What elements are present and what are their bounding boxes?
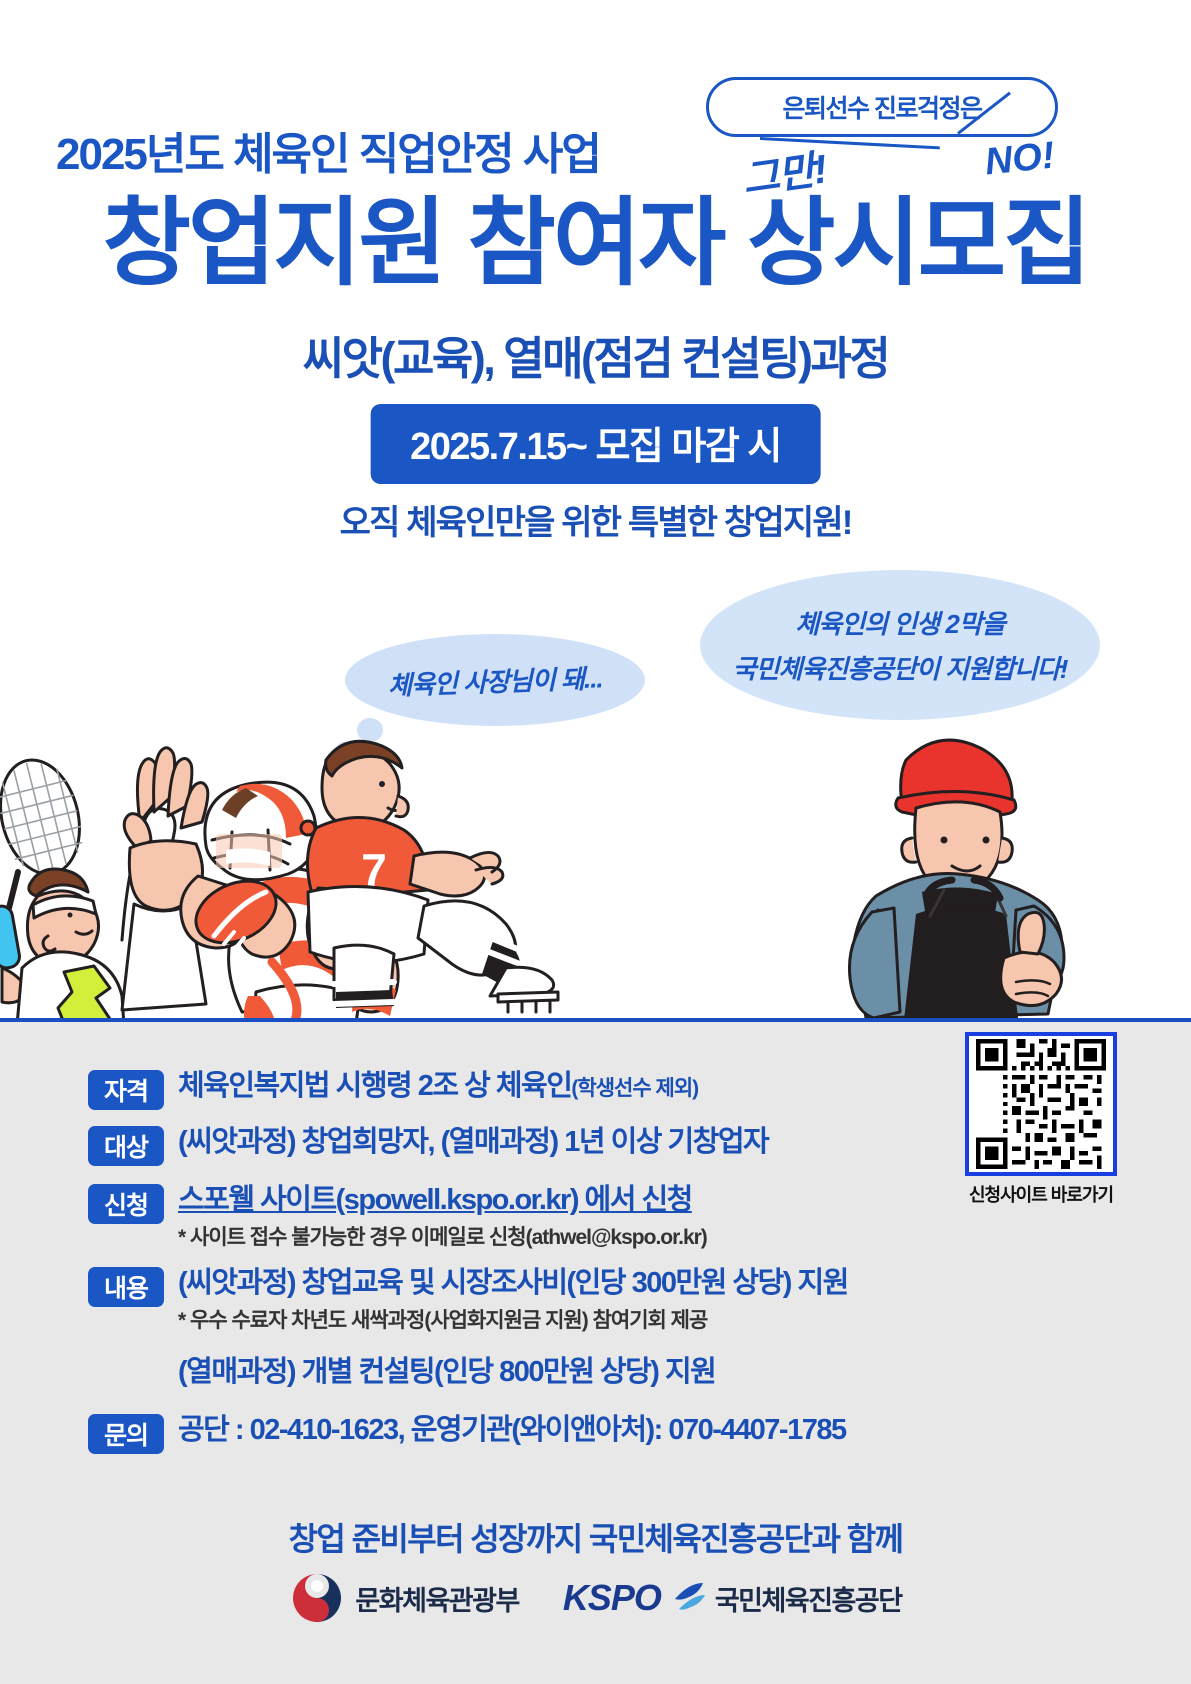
course-subtitle: 씨앗(교육), 열매(점검 컨설팅)과정 (0, 322, 1191, 387)
info-row-target: 대상 (씨앗과정) 창업희망자, (열매과정) 1년 이상 기창업자 (88, 1124, 988, 1166)
speech-pill-text: 은퇴선수 진로걱정은 (709, 80, 1055, 134)
info-main-contact: 공단 : 02-410-1623, 운영기관(와이앤아처): 070-4407-… (178, 1412, 988, 1449)
taegeuk-icon (289, 1570, 345, 1626)
logo-kspo-label: 국민체육진흥공단 (715, 1579, 902, 1618)
info-body-content: (씨앗과정) 창업교육 및 시장조사비(인당 300만원 상당) 지원 * 우수… (178, 1265, 988, 1390)
info-main-content-fruit: (열매과정) 개별 컨설팅(인당 800만원 상당) 지원 (178, 1348, 988, 1390)
logo-mcst-label: 문화체육관광부 (355, 1579, 518, 1618)
qr-code-icon (972, 1039, 1110, 1169)
recruitment-date-badge: 2025.7.15~ 모집 마감 시 (370, 404, 821, 484)
info-body-contact: 공단 : 02-410-1623, 운영기관(와이앤아처): 070-4407-… (178, 1412, 988, 1449)
athletes-illustration: 7 (0, 700, 1191, 1018)
closing-slogan: 창업 준비부터 성장까지 국민체육진흥공단과 함께 (0, 1514, 1191, 1560)
info-row-content: 내용 (씨앗과정) 창업교육 및 시장조사비(인당 300만원 상당) 지원 *… (88, 1265, 988, 1390)
handwritten-no-text: NO! (983, 134, 1057, 184)
info-main-qualification-text: 체육인복지법 시행령 2조 상 체육인 (178, 1070, 571, 1102)
soccer-player-figure: 7 (307, 741, 558, 1012)
info-body-qualification: 체육인복지법 시행령 2조 상 체육인(학생선수 제외) (178, 1068, 988, 1105)
qr-code-image[interactable] (965, 1032, 1117, 1176)
info-row-apply: 신청 스포웰 사이트(spowell.kspo.or.kr) 에서 신청 * 사… (88, 1182, 988, 1251)
poster-root: 2025년도 체육인 직업안정 사업 은퇴선수 진로걱정은 그만! NO! 창업… (0, 0, 1191, 1684)
info-row-contact: 문의 공단 : 02-410-1623, 운영기관(와이앤아처): 070-44… (88, 1412, 988, 1454)
info-list: 자격 체육인복지법 시행령 2조 상 체육인(학생선수 제외) 대상 (씨앗과정… (88, 1068, 988, 1464)
page-title: 창업지원 참여자 상시모집 (0, 196, 1191, 292)
logo-row: 문화체육관광부 KSPO 국민체육진흥공단 (0, 1570, 1191, 1626)
thought-bubble-support-line1: 체육인의 인생 2막을 (795, 604, 1004, 641)
qr-caption: 신청사이트 바로가기 (965, 1181, 1117, 1207)
info-tag-apply: 신청 (88, 1184, 164, 1224)
speech-pill-bubble: 은퇴선수 진로걱정은 (706, 77, 1058, 137)
qr-block[interactable]: 신청사이트 바로가기 (965, 1032, 1117, 1207)
info-body-target: (씨앗과정) 창업희망자, (열매과정) 1년 이상 기창업자 (178, 1124, 988, 1161)
logo-mcst: 문화체육관광부 (289, 1570, 518, 1626)
info-tag-target: 대상 (88, 1126, 164, 1166)
kspo-wing-icon (671, 1581, 705, 1615)
logo-kspo-wordmark: KSPO (563, 1577, 661, 1619)
poster-info-section: 자격 체육인복지법 시행령 2조 상 체육인(학생선수 제외) 대상 (씨앗과정… (0, 1018, 1191, 1684)
info-body-apply: 스포웰 사이트(spowell.kspo.or.kr) 에서 신청 * 사이트 … (178, 1182, 988, 1251)
info-note-content-seed: * 우수 수료자 차년도 새싹과정(사업화지원금 지원) 참여기회 제공 (178, 1304, 988, 1334)
info-main-content-seed: (씨앗과정) 창업교육 및 시장조사비(인당 300만원 상당) 지원 (178, 1265, 988, 1302)
thought-bubble-support-line2: 국민체육진흥공단이 지원합니다! (733, 649, 1068, 686)
info-main-qualification-note: (학생선수 제외) (571, 1077, 698, 1100)
business-owner-figure (849, 740, 1064, 1018)
info-tag-contact: 문의 (88, 1414, 164, 1454)
apply-email-note: * 사이트 접수 불가능한 경우 이메일로 신청(athwel@kspo.or.… (178, 1221, 988, 1251)
info-tag-qualification: 자격 (88, 1070, 164, 1110)
info-main-qualification: 체육인복지법 시행령 2조 상 체육인(학생선수 제외) (178, 1068, 988, 1105)
kicker-line: 2025년도 체육인 직업안정 사업 (56, 118, 600, 182)
logo-kspo: KSPO 국민체육진흥공단 (563, 1577, 902, 1619)
apply-site-link[interactable]: 스포웰 사이트(spowell.kspo.or.kr) 에서 신청 (178, 1182, 988, 1219)
poster-header-section: 2025년도 체육인 직업안정 사업 은퇴선수 진로걱정은 그만! NO! 창업… (0, 0, 1191, 1018)
info-main-target: (씨앗과정) 창업희망자, (열매과정) 1년 이상 기창업자 (178, 1124, 988, 1161)
thought-bubble-athlete-text: 체육인 사장님이 돼... (387, 658, 603, 702)
info-tag-content: 내용 (88, 1267, 164, 1307)
thought-bubble-support: 체육인의 인생 2막을 국민체육진흥공단이 지원합니다! (700, 570, 1100, 720)
tagline-text: 오직 체육인만을 위한 특별한 창업지원! (0, 495, 1191, 544)
tennis-player-figure (0, 752, 126, 1018)
info-row-qualification: 자격 체육인복지법 시행령 2조 상 체육인(학생선수 제외) (88, 1068, 988, 1110)
